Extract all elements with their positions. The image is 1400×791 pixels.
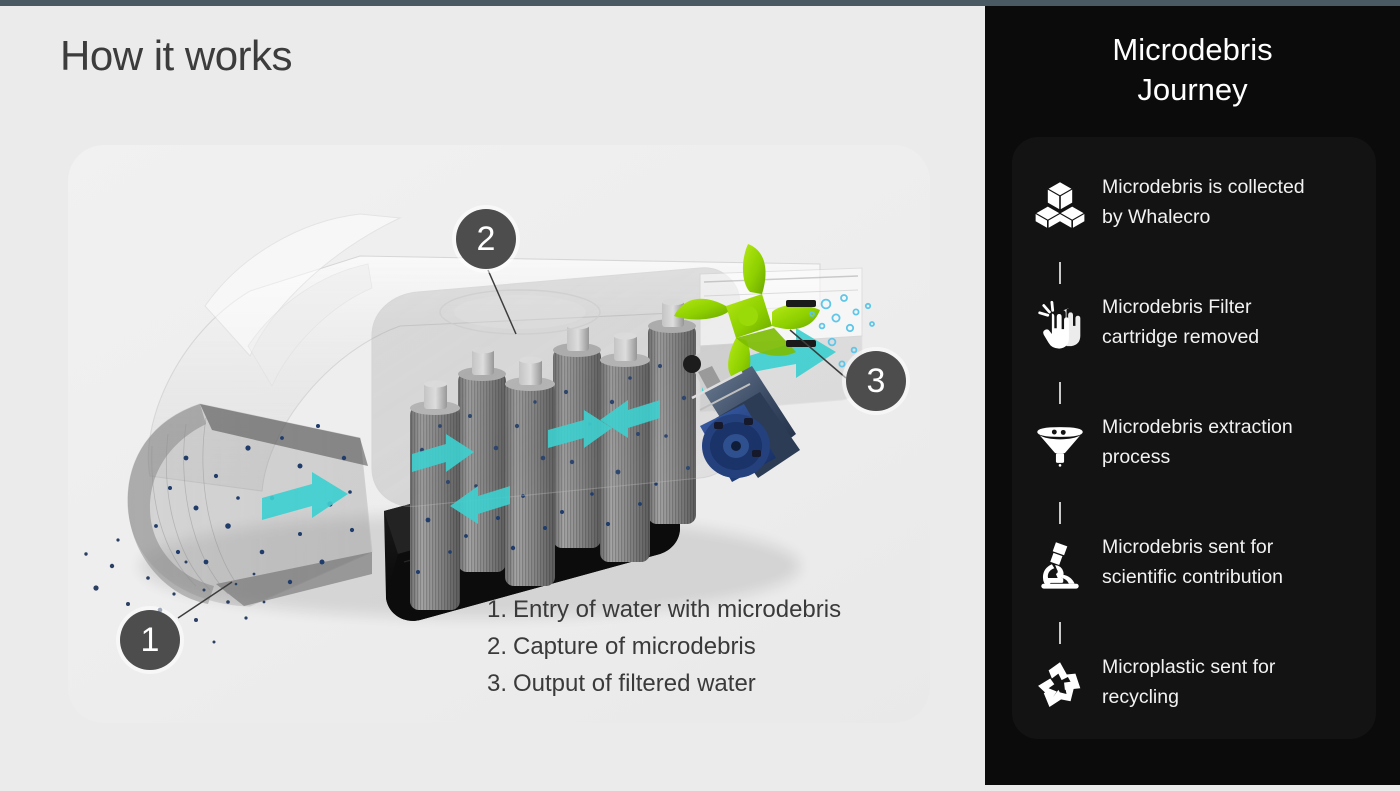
journey-step-recycling[interactable]: Microplastic sent for recycling xyxy=(1012,645,1376,741)
journey-step-line2: by Whalecro xyxy=(1102,206,1210,228)
hands-icon xyxy=(1022,287,1098,363)
journey-step-text: Microdebris is collected by Whalecro xyxy=(1098,165,1362,232)
callout-marker-2[interactable]: 2 xyxy=(456,209,516,269)
journey-step-collected[interactable]: Microdebris is collected by Whalecro xyxy=(1012,165,1376,261)
legend-label: Entry of water with microdebris xyxy=(513,596,841,623)
journey-steps-list: Microdebris is collected by Whalecro Mic… xyxy=(1012,137,1376,739)
journey-step-text: Microdebris extraction process xyxy=(1098,405,1362,472)
journey-step-text: Microdebris Filter cartridge removed xyxy=(1098,285,1362,352)
journey-step-cartridge-removed[interactable]: Microdebris Filter cartridge removed xyxy=(1012,285,1376,381)
journey-step-text: Microplastic sent for recycling xyxy=(1098,645,1362,712)
funnel-icon xyxy=(1022,407,1098,483)
journey-step-scientific[interactable]: Microdebris sent for scientific contribu… xyxy=(1012,525,1376,621)
legend-label: Output of filtered water xyxy=(513,670,756,697)
step-connector xyxy=(1012,621,1376,645)
legend-number: 1. xyxy=(487,591,513,628)
journey-step-line1: Microdebris sent for xyxy=(1102,536,1273,558)
journey-step-line2: recycling xyxy=(1102,686,1179,708)
journey-title-line2: Journey xyxy=(985,70,1400,110)
journey-step-line1: Microplastic sent for xyxy=(1102,656,1275,678)
microscope-icon xyxy=(1022,527,1098,603)
journey-title: Microdebris Journey xyxy=(985,30,1400,110)
journey-step-line1: Microdebris extraction xyxy=(1102,416,1293,438)
cubes-icon xyxy=(1022,167,1098,243)
journey-step-line1: Microdebris is collected xyxy=(1102,176,1305,198)
journey-step-line1: Microdebris Filter xyxy=(1102,296,1252,318)
recycle-icon xyxy=(1022,647,1098,723)
journey-step-line2: process xyxy=(1102,446,1170,468)
microdebris-journey-panel: Microdebris Journey Microdeb xyxy=(985,6,1400,785)
journey-step-line2: cartridge removed xyxy=(1102,326,1259,348)
legend-number: 2. xyxy=(487,628,513,665)
step-connector xyxy=(1012,381,1376,405)
journey-step-extraction[interactable]: Microdebris extraction process xyxy=(1012,405,1376,501)
how-it-works-panel: How it works xyxy=(0,6,980,791)
legend-item-3: 3.Output of filtered water xyxy=(487,665,841,702)
journey-step-text: Microdebris sent for scientific contribu… xyxy=(1098,525,1362,592)
legend-item-1: 1.Entry of water with microdebris xyxy=(487,591,841,628)
steps-legend: 1.Entry of water with microdebris 2.Capt… xyxy=(487,591,841,702)
legend-label: Capture of microdebris xyxy=(513,633,756,660)
journey-title-line1: Microdebris xyxy=(985,30,1400,70)
legend-number: 3. xyxy=(487,665,513,702)
callout-marker-1[interactable]: 1 xyxy=(120,610,180,670)
step-connector xyxy=(1012,261,1376,285)
journey-step-line2: scientific contribution xyxy=(1102,566,1283,588)
step-connector xyxy=(1012,501,1376,525)
legend-item-2: 2.Capture of microdebris xyxy=(487,628,841,665)
callout-marker-3[interactable]: 3 xyxy=(846,351,906,411)
